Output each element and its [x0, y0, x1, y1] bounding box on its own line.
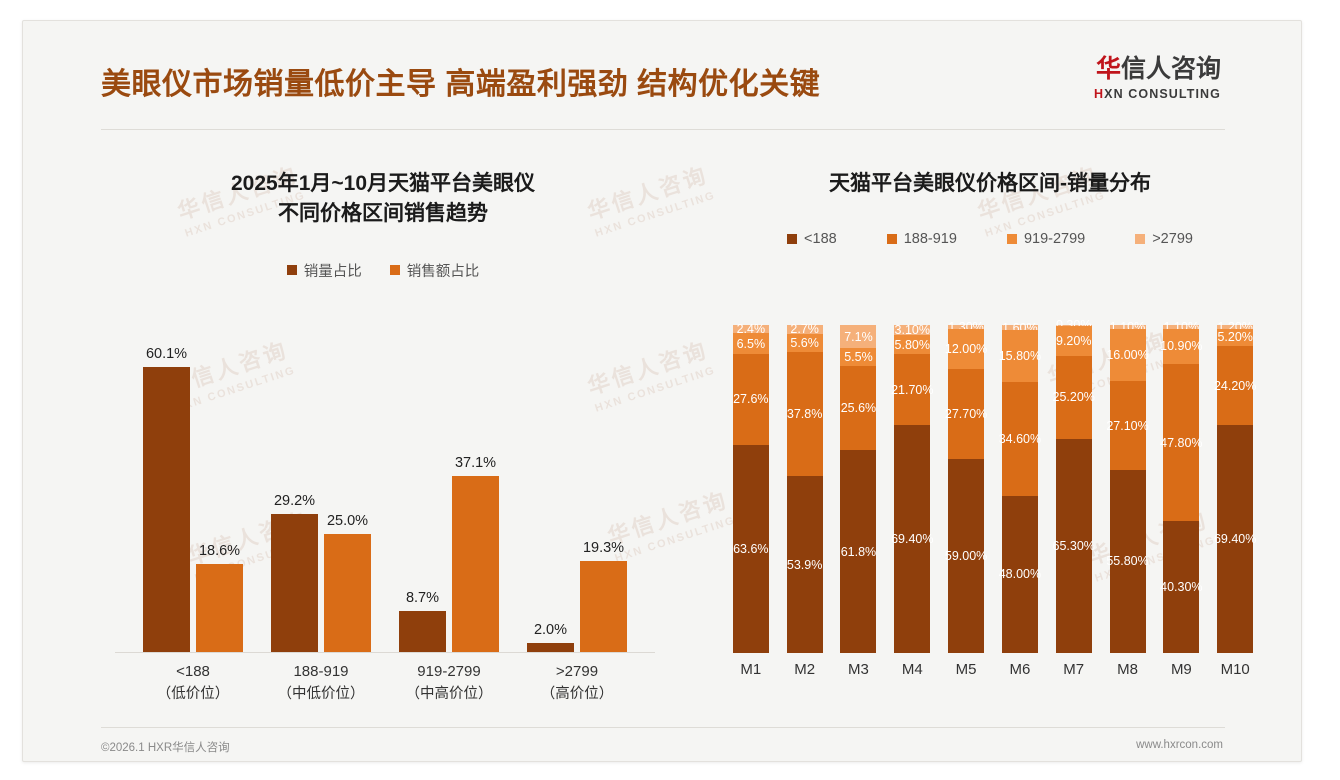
x-axis-label: M2	[777, 661, 833, 678]
segment-value-label: 34.60%	[999, 432, 1041, 446]
x-axis-label-main: 188-919	[293, 663, 348, 680]
slide-root: 华信人咨询 HXN CONSULTING 华信人咨询 HXN CONSULTIN…	[0, 0, 1340, 780]
bar-revenue[interactable]: 25.0%	[324, 534, 371, 652]
legend-label: 188-919	[904, 231, 957, 247]
x-axis-label: M4	[884, 661, 940, 678]
logo-latin: HXN CONSULTING	[1051, 87, 1221, 101]
segment-value-label: 47.80%	[1160, 436, 1202, 450]
x-axis-label-main: >2799	[556, 663, 598, 680]
segment-value-label: 24.20%	[1214, 379, 1256, 393]
stacked-segment[interactable]: 48.00%	[1002, 496, 1038, 653]
right-chart-x-labels: M1M2M3M4M5M6M7M8M9M10	[715, 661, 1271, 691]
stacked-segment[interactable]: 59.00%	[948, 459, 984, 653]
legend-item-2[interactable]: 188-919	[887, 231, 957, 247]
segment-value-label: 6.5%	[737, 337, 766, 351]
legend-item-2[interactable]: 销售额占比	[390, 260, 480, 281]
stacked-bar[interactable]: 0.30%9.20%25.20%65.30%	[1056, 325, 1092, 653]
stacked-bar[interactable]: 1.30%12.00%27.70%59.00%	[948, 325, 984, 653]
x-axis-label: M8	[1100, 661, 1156, 678]
legend-item-1[interactable]: 销量占比	[287, 260, 362, 281]
bar-value-label: 8.7%	[406, 590, 439, 606]
left-chart-title: 2025年1月~10月天猫平台美眼仪 不同价格区间销售趋势	[83, 169, 683, 230]
segment-value-label: 55.80%	[1106, 554, 1148, 568]
x-axis-label-sub: （中低价位）	[271, 684, 371, 706]
segment-value-label: 5.6%	[790, 336, 819, 350]
stacked-segment[interactable]: 53.9%	[787, 476, 823, 653]
bar-volume[interactable]: 8.7%	[399, 611, 446, 652]
segment-value-label: 59.00%	[945, 549, 987, 563]
segment-value-label: 27.70%	[945, 407, 987, 421]
page-title: 美眼仪市场销量低价主导 高端盈利强劲 结构优化关键	[101, 59, 820, 103]
right-chart-panel: 天猫平台美眼仪价格区间-销量分布 <188188-919919-2799>279…	[695, 149, 1285, 719]
segment-value-label: 5.5%	[844, 350, 873, 364]
segment-value-label: 69.40%	[891, 532, 933, 546]
stacked-segment[interactable]: 5.80%	[894, 335, 930, 354]
x-axis-label-sub: （低价位）	[143, 684, 243, 706]
bar-group: 2.0%19.3%	[527, 561, 627, 652]
stacked-bar[interactable]: 1.60%15.80%34.60%48.00%	[1002, 325, 1038, 653]
right-chart-plot: 2.4%6.5%27.6%63.6%2.7%5.6%37.8%53.9%7.1%…	[715, 317, 1271, 653]
bar-value-label: 29.2%	[274, 493, 315, 509]
segment-value-label: 10.90%	[1160, 339, 1202, 353]
logo-chinese: 华信人咨询	[1051, 57, 1221, 82]
stacked-bar[interactable]: 3.10%5.80%21.70%69.40%	[894, 325, 930, 653]
bar-group: 60.1%18.6%	[143, 367, 243, 652]
stacked-segment[interactable]: 61.8%	[840, 450, 876, 653]
x-axis-label: 919-2799（中高价位）	[399, 661, 499, 705]
stacked-segment[interactable]: 27.10%	[1110, 381, 1146, 470]
x-axis-label-main: <188	[176, 663, 210, 680]
bar-volume[interactable]: 2.0%	[527, 643, 574, 652]
stacked-bar[interactable]: 1.10%16.00%27.10%55.80%	[1110, 325, 1146, 653]
stacked-segment[interactable]: 10.90%	[1163, 329, 1199, 365]
bar-value-label: 19.3%	[583, 540, 624, 556]
stacked-segment[interactable]: 12.00%	[948, 329, 984, 368]
stacked-bar[interactable]: 2.4%6.5%27.6%63.6%	[733, 325, 769, 653]
left-chart-axis	[115, 652, 655, 653]
segment-value-label: 69.40%	[1214, 532, 1256, 546]
stacked-segment[interactable]: 55.80%	[1110, 470, 1146, 653]
stacked-segment[interactable]: 3.10%	[894, 325, 930, 335]
stacked-bar[interactable]: 1.10%10.90%47.80%40.30%	[1163, 325, 1199, 653]
right-chart-title-line1: 天猫平台美眼仪价格区间-销量分布	[695, 169, 1285, 199]
bar-value-label: 18.6%	[199, 543, 240, 559]
left-chart-title-line1: 2025年1月~10月天猫平台美眼仪	[83, 169, 683, 199]
segment-value-label: 53.9%	[787, 558, 822, 572]
stacked-segment[interactable]: 65.30%	[1056, 439, 1092, 653]
left-chart-x-labels: <188（低价位）188-919（中低价位）919-2799（中高价位）>279…	[115, 661, 655, 721]
segment-value-label: 5.20%	[1217, 330, 1252, 344]
footer-divider	[101, 727, 1225, 728]
legend-swatch-icon	[887, 234, 897, 244]
x-axis-label: M9	[1153, 661, 1209, 678]
bar-volume[interactable]: 60.1%	[143, 367, 190, 652]
company-logo: 华信人咨询 HXN CONSULTING	[1051, 57, 1221, 101]
legend-label: 919-2799	[1024, 231, 1085, 247]
logo-char-hua: 华	[1096, 55, 1121, 83]
stacked-segment[interactable]: 5.5%	[840, 348, 876, 366]
x-axis-label-sub: （高价位）	[527, 684, 627, 706]
footer-copyright: ©2026.1 HXR华信人咨询	[101, 739, 230, 755]
footer-website: www.hxrcon.com	[1136, 739, 1223, 751]
legend-item-3[interactable]: 919-2799	[1007, 231, 1085, 247]
segment-value-label: 61.8%	[841, 545, 876, 559]
stacked-segment[interactable]: 37.8%	[787, 352, 823, 476]
segment-value-label: 37.8%	[787, 407, 822, 421]
legend-swatch-icon	[390, 265, 400, 275]
stacked-segment[interactable]: 6.5%	[733, 333, 769, 354]
bar-value-label: 25.0%	[327, 513, 368, 529]
bar-value-label: 60.1%	[146, 346, 187, 362]
x-axis-label-main: 919-2799	[417, 663, 480, 680]
x-axis-label-sub: （中高价位）	[399, 684, 499, 706]
segment-value-label: 25.20%	[1053, 390, 1095, 404]
segment-value-label: 27.6%	[733, 392, 768, 406]
x-axis-label: M1	[723, 661, 779, 678]
segment-value-label: 63.6%	[733, 542, 768, 556]
stacked-segment[interactable]: 7.1%	[840, 325, 876, 348]
bar-value-label: 37.1%	[455, 455, 496, 471]
legend-swatch-icon	[787, 234, 797, 244]
x-axis-label: >2799（高价位）	[527, 661, 627, 705]
bar-group: 8.7%37.1%	[399, 476, 499, 652]
logo-chars-rest: 信人咨询	[1121, 55, 1221, 83]
legend-swatch-icon	[1135, 234, 1145, 244]
legend-item-1[interactable]: <188	[787, 231, 837, 247]
stacked-segment[interactable]: 63.6%	[733, 445, 769, 653]
legend-swatch-icon	[287, 265, 297, 275]
segment-value-label: 40.30%	[1160, 580, 1202, 594]
segment-value-label: 27.10%	[1106, 419, 1148, 433]
stacked-bar[interactable]: 1.20%5.20%24.20%69.40%	[1217, 325, 1253, 653]
segment-value-label: 5.80%	[895, 338, 930, 352]
bar-volume[interactable]: 29.2%	[271, 514, 318, 652]
right-chart-title: 天猫平台美眼仪价格区间-销量分布	[695, 169, 1285, 199]
segment-value-label: 65.30%	[1053, 539, 1095, 553]
x-axis-label: M10	[1207, 661, 1263, 678]
stacked-segment[interactable]: 21.70%	[894, 354, 930, 425]
left-chart-title-line2: 不同价格区间销售趋势	[83, 199, 683, 229]
stacked-segment[interactable]: 16.00%	[1110, 329, 1146, 381]
stacked-segment[interactable]: 9.20%	[1056, 326, 1092, 356]
header-divider	[101, 129, 1225, 130]
slide-card: 华信人咨询 HXN CONSULTING 华信人咨询 HXN CONSULTIN…	[22, 20, 1302, 762]
stacked-segment[interactable]: 27.70%	[948, 369, 984, 460]
stacked-segment[interactable]: 24.20%	[1217, 346, 1253, 425]
stacked-segment[interactable]: 40.30%	[1163, 521, 1199, 653]
legend-label: <188	[804, 231, 837, 247]
stacked-segment[interactable]: 25.20%	[1056, 356, 1092, 439]
segment-value-label: 9.20%	[1056, 334, 1091, 348]
x-axis-label: M3	[830, 661, 886, 678]
stacked-segment[interactable]: 5.20%	[1217, 329, 1253, 346]
logo-latin-h: H	[1094, 87, 1104, 101]
legend-swatch-icon	[1007, 234, 1017, 244]
right-chart-legend: <188188-919919-2799>2799	[695, 231, 1285, 247]
stacked-bar[interactable]: 7.1%5.5%25.6%61.8%	[840, 325, 876, 653]
segment-value-label: 48.00%	[999, 567, 1041, 581]
legend-label: >2799	[1152, 231, 1193, 247]
bar-value-label: 2.0%	[534, 622, 567, 638]
stacked-segment[interactable]: 15.80%	[1002, 330, 1038, 382]
left-chart-legend: 销量占比销售额占比	[83, 260, 683, 281]
legend-label: 销售额占比	[407, 260, 480, 281]
stacked-segment[interactable]: 2.7%	[787, 325, 823, 334]
x-axis-label: 188-919（中低价位）	[271, 661, 371, 705]
x-axis-label: <188（低价位）	[143, 661, 243, 705]
segment-value-label: 12.00%	[945, 342, 987, 356]
x-axis-label: M5	[938, 661, 994, 678]
left-chart-panel: 2025年1月~10月天猫平台美眼仪 不同价格区间销售趋势 销量占比销售额占比 …	[83, 149, 683, 719]
stacked-segment[interactable]: 25.6%	[840, 366, 876, 450]
legend-label: 销量占比	[304, 260, 362, 281]
segment-value-label: 21.70%	[891, 383, 933, 397]
stacked-segment[interactable]: 27.6%	[733, 354, 769, 444]
bar-revenue[interactable]: 37.1%	[452, 476, 499, 652]
stacked-segment[interactable]: 69.40%	[894, 425, 930, 653]
stacked-segment[interactable]: 5.6%	[787, 334, 823, 352]
x-axis-label: M7	[1046, 661, 1102, 678]
stacked-segment[interactable]: 47.80%	[1163, 364, 1199, 521]
legend-item-4[interactable]: >2799	[1135, 231, 1193, 247]
segment-value-label: 25.6%	[841, 401, 876, 415]
x-axis-label: M6	[992, 661, 1048, 678]
bar-revenue[interactable]: 19.3%	[580, 561, 627, 652]
bar-revenue[interactable]: 18.6%	[196, 564, 243, 652]
bar-group: 29.2%25.0%	[271, 514, 371, 652]
stacked-segment[interactable]: 2.4%	[733, 325, 769, 333]
segment-value-label: 15.80%	[999, 349, 1041, 363]
stacked-segment[interactable]: 34.60%	[1002, 382, 1038, 495]
stacked-segment[interactable]: 69.40%	[1217, 425, 1253, 653]
logo-latin-rest: XN CONSULTING	[1104, 87, 1221, 101]
segment-value-label: 7.1%	[844, 330, 873, 344]
header: 美眼仪市场销量低价主导 高端盈利强劲 结构优化关键 华信人咨询 HXN CONS…	[23, 21, 1301, 121]
segment-value-label: 16.00%	[1106, 348, 1148, 362]
left-chart-plot: 60.1%18.6%29.2%25.0%8.7%37.1%2.0%19.3%	[115, 345, 655, 653]
stacked-bar[interactable]: 2.7%5.6%37.8%53.9%	[787, 325, 823, 653]
